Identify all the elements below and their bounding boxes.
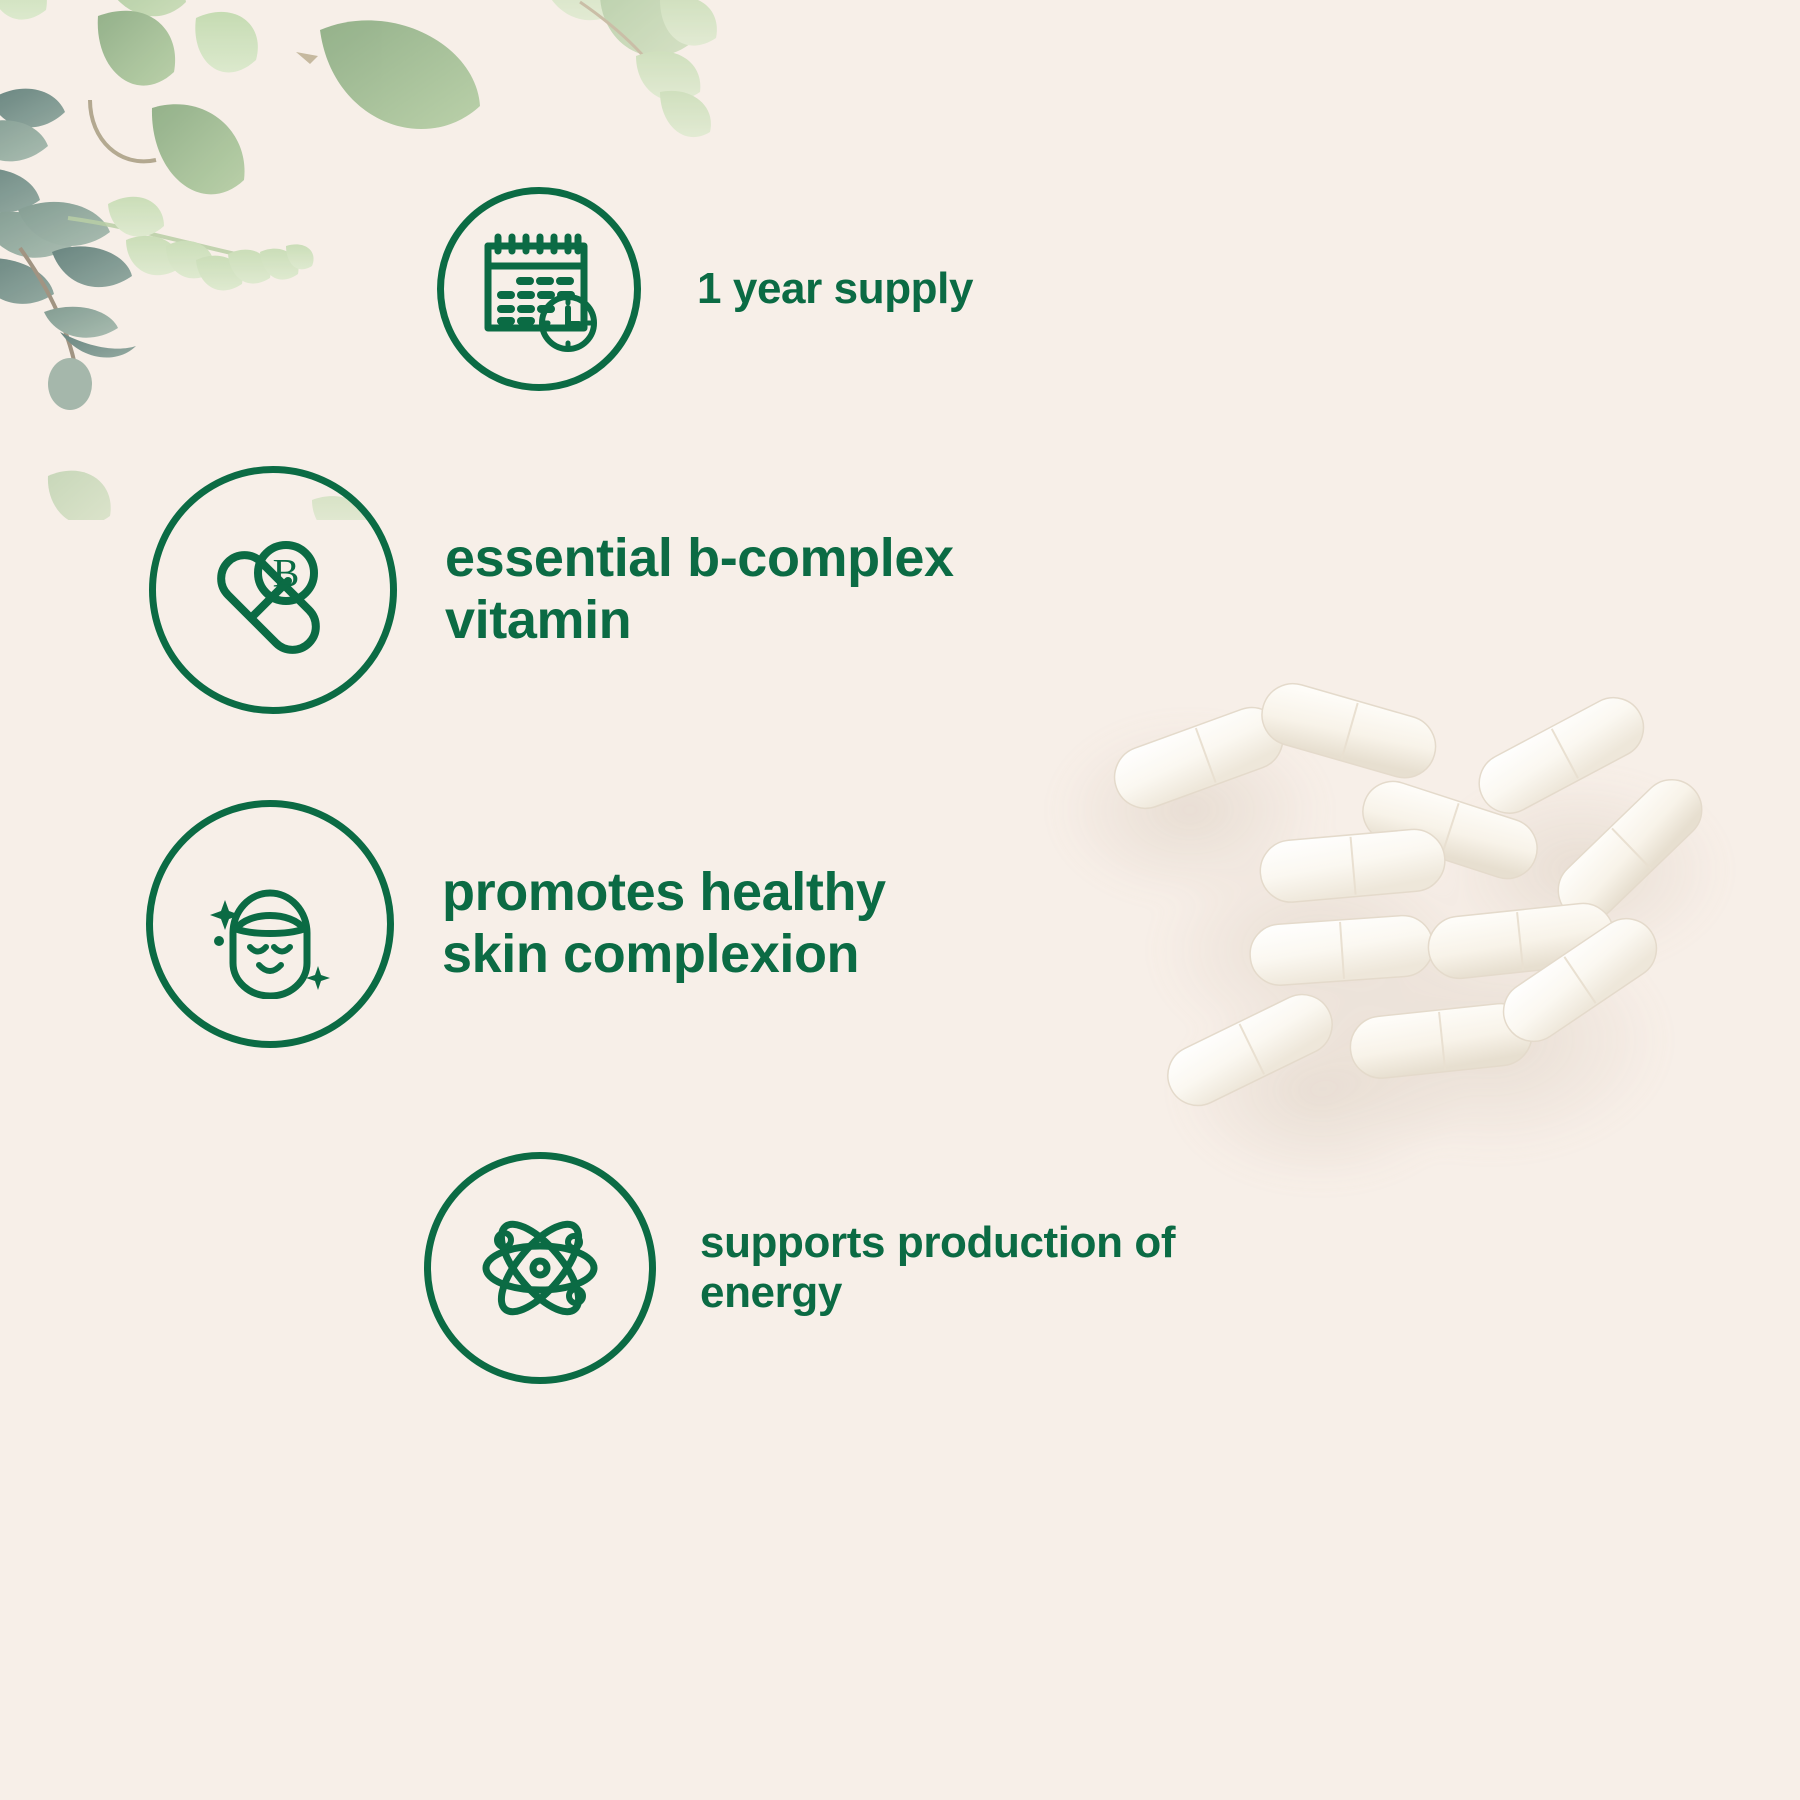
benefit-row-energy: supports production of energy <box>424 1152 1175 1384</box>
benefit-row-bcomplex: B essential b-complex vitamin <box>149 466 954 714</box>
benefit-icon-ring <box>146 800 394 1048</box>
benefit-label: promotes healthy skin complexion <box>442 862 886 985</box>
benefit-icon-ring <box>437 187 641 391</box>
benefit-label: 1 year supply <box>697 264 973 314</box>
calendar-clock-icon <box>474 224 604 354</box>
benefit-label: essential b-complex vitamin <box>445 528 954 651</box>
atom-icon <box>470 1198 610 1338</box>
benefit-icon-ring: B <box>149 466 397 714</box>
letter-b: B <box>273 551 300 596</box>
glowing-face-icon <box>195 849 345 999</box>
product-benefits-graphic: 1 year supply B essential b-complex vita… <box>0 0 1800 1800</box>
benefit-label: supports production of energy <box>700 1218 1175 1318</box>
capsule-b-icon: B <box>198 515 348 665</box>
benefit-icon-ring <box>424 1152 656 1384</box>
benefit-row-skin: promotes healthy skin complexion <box>146 800 886 1048</box>
sparkle-dot-icon <box>214 936 224 946</box>
benefit-row-supply: 1 year supply <box>437 187 973 391</box>
